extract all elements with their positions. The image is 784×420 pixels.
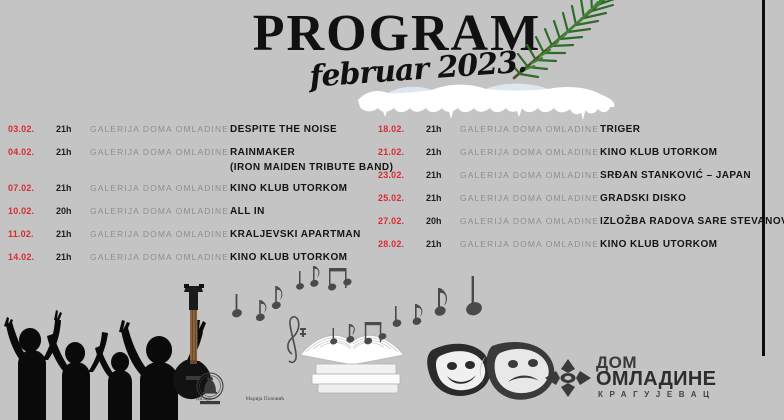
- event-row[interactable]: 28.02.21hGALERIJA DOMA OMLADINEKINO KLUB…: [378, 239, 763, 255]
- theatre-masks-icon: [427, 342, 554, 400]
- event-title: KINO KLUB UTORKOM: [600, 147, 717, 158]
- event-date: 27.02.: [378, 216, 422, 226]
- event-title: KINO KLUB UTORKOM: [600, 239, 717, 250]
- event-date: 07.02.: [8, 183, 52, 193]
- event-title: KINO KLUB UTORKOM: [230, 183, 347, 194]
- event-time: 21h: [426, 170, 456, 180]
- event-title-main: KINO KLUB UTORKOM: [230, 183, 347, 194]
- event-venue: GALERIJA DOMA OMLADINE: [90, 229, 230, 239]
- logo-line-2: ОМЛАДИНЕ: [596, 369, 716, 389]
- event-title: GRADSKI DISKO: [600, 193, 686, 204]
- event-venue: GALERIJA DOMA OMLADINE: [90, 124, 230, 134]
- event-time: 20h: [426, 216, 456, 226]
- event-date: 25.02.: [378, 193, 422, 203]
- dom-omladine-logo[interactable]: ДОМ ОМЛАДИНЕ КРАГУЈЕВАЦ: [544, 352, 758, 408]
- event-date: 18.02.: [378, 124, 422, 134]
- event-title: IZLOŽBA RADOVA SARE STEVANOVIĆ: [600, 216, 784, 227]
- event-time: 21h: [56, 147, 86, 157]
- event-title-main: SRĐAN STANKOVIĆ – JAPAN: [600, 170, 751, 181]
- guitar-icon: [173, 284, 211, 399]
- event-time: 21h: [56, 229, 86, 239]
- event-venue: GALERIJA DOMA OMLADINE: [460, 239, 600, 249]
- event-venue: GALERIJA DOMA OMLADINE: [460, 216, 600, 226]
- credit-label: Дизајн: [196, 397, 212, 402]
- event-time: 21h: [426, 147, 456, 157]
- event-title: ALL IN: [230, 206, 265, 217]
- event-time: 20h: [56, 206, 86, 216]
- event-venue: GALERIJA DOMA OMLADINE: [90, 183, 230, 193]
- event-date: 04.02.: [8, 147, 52, 157]
- event-row[interactable]: 10.02.20hGALERIJA DOMA OMLADINEALL IN: [8, 206, 378, 222]
- event-row[interactable]: 21.02.21hGALERIJA DOMA OMLADINEKINO KLUB…: [378, 147, 763, 163]
- event-title: TRIGER: [600, 124, 640, 135]
- event-row[interactable]: 03.02.21hGALERIJA DOMA OMLADINEDESPITE T…: [8, 124, 378, 140]
- event-title-main: KINO KLUB UTORKOM: [600, 239, 717, 250]
- crowd-silhouette-icon: [4, 310, 206, 420]
- event-date: 23.02.: [378, 170, 422, 180]
- event-venue: GALERIJA DOMA OMLADINE: [460, 170, 600, 180]
- books-icon: [300, 335, 404, 393]
- event-row[interactable]: 25.02.21hGALERIJA DOMA OMLADINEGRADSKI D…: [378, 193, 763, 209]
- event-title: KRALJEVSKI APARTMAN: [230, 229, 361, 240]
- event-venue: GALERIJA DOMA OMLADINE: [90, 206, 230, 216]
- event-date: 28.02.: [378, 239, 422, 249]
- event-title-main: TRIGER: [600, 124, 640, 135]
- event-venue: GALERIJA DOMA OMLADINE: [90, 147, 230, 157]
- credit-seal-spacer: [216, 386, 242, 412]
- event-time: 21h: [56, 183, 86, 193]
- program-poster: PROGRAM februar 2023.: [0, 0, 784, 420]
- event-venue: GALERIJA DOMA OMLADINE: [460, 124, 600, 134]
- logo-city: КРАГУЈЕВАЦ: [598, 391, 716, 399]
- event-row[interactable]: 23.02.21hGALERIJA DOMA OMLADINESRĐAN STA…: [378, 170, 763, 186]
- credit-block: Дизајн Марија Поповић: [180, 386, 300, 412]
- event-time: 21h: [426, 193, 456, 203]
- event-venue: GALERIJA DOMA OMLADINE: [460, 193, 600, 203]
- event-title: DESPITE THE NOISE: [230, 124, 337, 135]
- event-title-main: IZLOŽBA RADOVA SARE STEVANOVIĆ: [600, 216, 784, 227]
- event-time: 21h: [56, 124, 86, 134]
- event-row[interactable]: 07.02.21hGALERIJA DOMA OMLADINEKINO KLUB…: [8, 183, 378, 199]
- event-title-main: RAINMAKER: [230, 147, 295, 158]
- event-date: 21.02.: [378, 147, 422, 157]
- event-row[interactable]: 27.02.20hGALERIJA DOMA OMLADINEIZLOŽBA R…: [378, 216, 763, 232]
- event-title: RAINMAKER(IRON MAIDEN TRIBUTE BAND): [230, 147, 393, 173]
- event-title-main: KRALJEVSKI APARTMAN: [230, 229, 361, 240]
- event-row[interactable]: 11.02.21hGALERIJA DOMA OMLADINEKRALJEVSK…: [8, 229, 378, 245]
- event-title: SRĐAN STANKOVIĆ – JAPAN: [600, 170, 751, 181]
- event-title-main: KINO KLUB UTORKOM: [600, 147, 717, 158]
- logo-emblem-icon: [544, 358, 592, 398]
- event-date: 10.02.: [8, 206, 52, 216]
- event-row[interactable]: 18.02.21hGALERIJA DOMA OMLADINETRIGER: [378, 124, 763, 140]
- event-date: 03.02.: [8, 124, 52, 134]
- event-time: 21h: [426, 124, 456, 134]
- event-title-main: ALL IN: [230, 206, 265, 217]
- event-row[interactable]: 04.02.21hGALERIJA DOMA OMLADINERAINMAKER…: [8, 147, 378, 163]
- event-title-main: GRADSKI DISKO: [600, 193, 686, 204]
- event-venue: GALERIJA DOMA OMLADINE: [460, 147, 600, 157]
- event-date: 11.02.: [8, 229, 52, 239]
- event-title-main: DESPITE THE NOISE: [230, 124, 337, 135]
- event-title-subtitle: (IRON MAIDEN TRIBUTE BAND): [230, 162, 393, 173]
- event-listing: 03.02.21hGALERIJA DOMA OMLADINEDESPITE T…: [0, 124, 784, 274]
- credit-author: Марија Поповић: [246, 397, 285, 402]
- event-time: 21h: [426, 239, 456, 249]
